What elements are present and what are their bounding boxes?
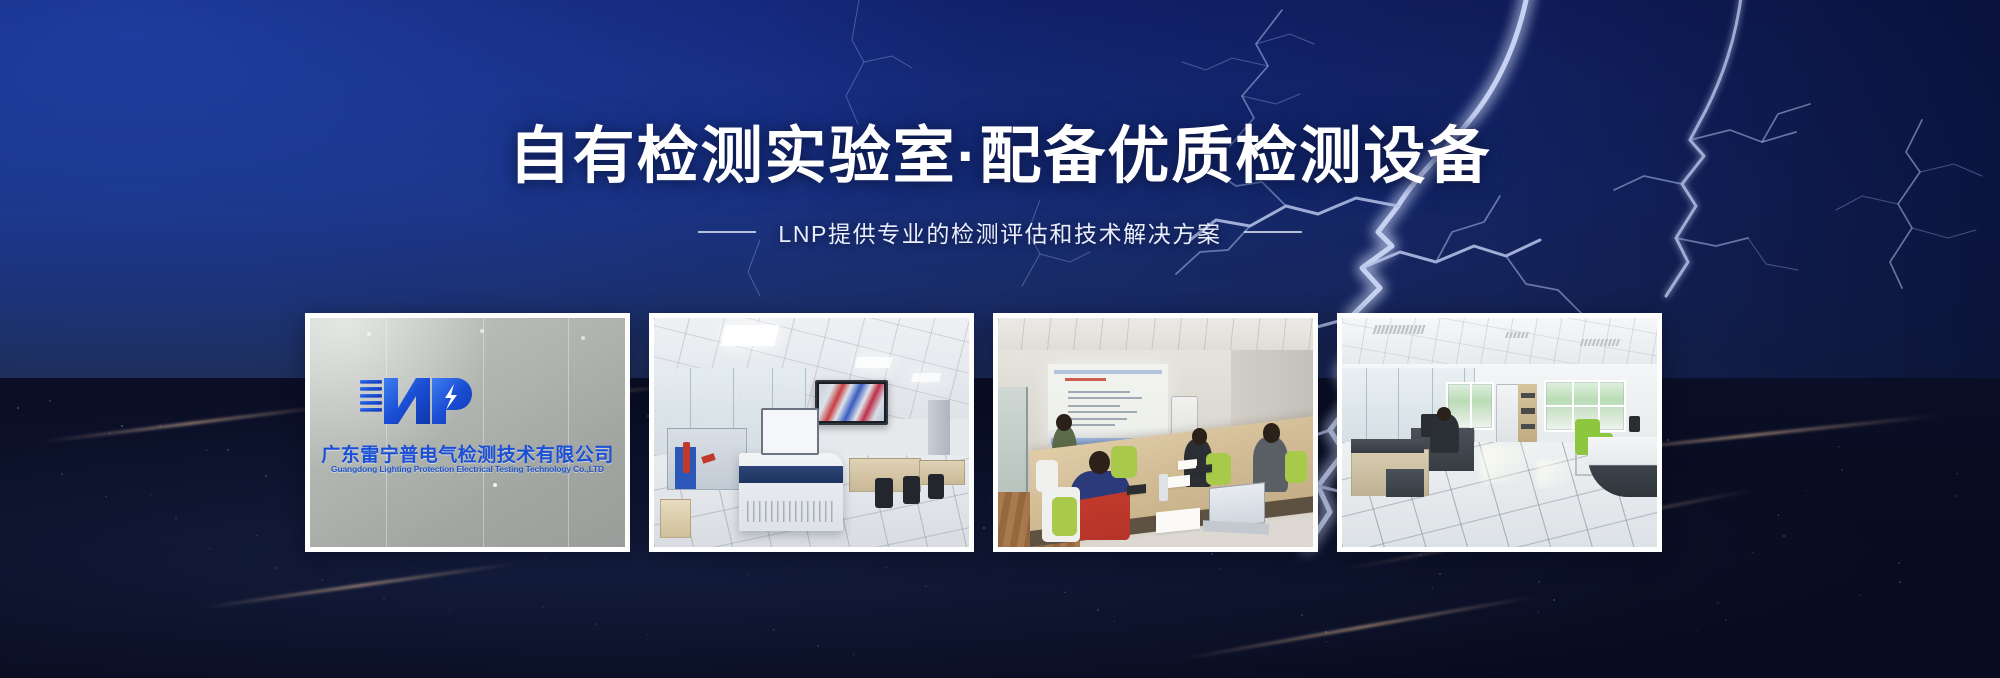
office-shelf bbox=[1518, 384, 1537, 444]
wall-dot bbox=[493, 483, 497, 487]
rule-left-icon bbox=[698, 231, 756, 233]
laptop-base bbox=[1203, 520, 1269, 535]
reception-monitor-icon bbox=[1629, 416, 1640, 432]
banner-text-block: 自有检测实验室·配备优质检测设备 LNP提供专业的检测评估和技术解决方案 bbox=[0, 120, 2000, 249]
slide-header-bar bbox=[1054, 370, 1162, 374]
attendee-right-chair bbox=[1285, 451, 1307, 483]
meeting-door bbox=[998, 387, 1028, 492]
photo-gallery: 广东雷宁普电气检测技术有限公司 Guangdong Lighting Prote… bbox=[305, 313, 1662, 552]
spare-chair-green bbox=[1111, 446, 1136, 478]
rig-red-arm bbox=[701, 454, 715, 465]
console-vents bbox=[747, 501, 834, 521]
attendee-front-head bbox=[1089, 451, 1109, 474]
spare-chair-white bbox=[1036, 460, 1058, 492]
ceiling-vent bbox=[1505, 332, 1529, 338]
ceiling-vent bbox=[1580, 339, 1620, 346]
laboratory-image bbox=[654, 318, 969, 547]
control-console bbox=[739, 453, 843, 531]
paper-document bbox=[1156, 508, 1200, 533]
office-desk-side bbox=[1386, 469, 1424, 496]
wall-seam bbox=[568, 318, 569, 547]
wall-monitor-screen bbox=[819, 384, 884, 421]
office-image bbox=[1342, 318, 1657, 547]
wall-seam bbox=[483, 318, 484, 547]
attendee-front-chair-green bbox=[1052, 497, 1077, 536]
rule-right-icon bbox=[1244, 231, 1302, 233]
ceiling-light bbox=[911, 373, 942, 382]
wall-seam bbox=[386, 318, 387, 547]
meeting-room-image bbox=[998, 318, 1313, 547]
attendee-right-head bbox=[1263, 423, 1280, 442]
ceiling-vent bbox=[1372, 325, 1425, 334]
presenter-head bbox=[1056, 414, 1072, 431]
rig-red-module bbox=[683, 442, 690, 473]
company-name-cn: 广东雷宁普电气检测技术有限公司 bbox=[310, 440, 625, 467]
hv-test-rig bbox=[667, 428, 748, 490]
console-blue-band bbox=[739, 466, 843, 483]
paper-document bbox=[1178, 459, 1197, 470]
lab-side-table bbox=[660, 499, 690, 538]
office-desk-top bbox=[1351, 439, 1423, 453]
company-name-en: Guangdong Lighting Protection Electrical… bbox=[310, 464, 625, 474]
wall-monitor-icon bbox=[815, 380, 888, 425]
company-sign-image: 广东雷宁普电气检测技术有限公司 Guangdong Lighting Prote… bbox=[310, 318, 625, 547]
page-title: 自有检测实验室·配备优质检测设备 bbox=[0, 120, 2000, 193]
slide-title bbox=[1065, 378, 1106, 381]
gallery-photo-laboratory[interactable] bbox=[649, 313, 974, 552]
ceiling-fixture bbox=[367, 332, 371, 336]
thermos-cup bbox=[1159, 474, 1168, 501]
phone-device bbox=[1196, 464, 1212, 474]
gallery-photo-office[interactable] bbox=[1337, 313, 1662, 552]
console-monitor bbox=[761, 408, 819, 456]
lab-chair bbox=[928, 474, 944, 499]
lab-chair bbox=[903, 476, 920, 503]
ceiling-fixture bbox=[581, 336, 585, 340]
banner-subtitle: LNP提供专业的检测评估和技术解决方案 bbox=[778, 215, 1221, 249]
subtitle-row: LNP提供专业的检测评估和技术解决方案 bbox=[0, 215, 2000, 249]
gallery-photo-company-sign[interactable]: 广东雷宁普电气检测技术有限公司 Guangdong Lighting Prote… bbox=[305, 313, 630, 552]
hero-banner: 自有检测实验室·配备优质检测设备 LNP提供专业的检测评估和技术解决方案 bbox=[0, 0, 2000, 678]
ceiling-light bbox=[721, 325, 780, 346]
office-worker-head bbox=[1437, 407, 1451, 421]
gallery-photo-meeting-room[interactable] bbox=[993, 313, 1318, 552]
lnp-logo-icon bbox=[358, 370, 480, 432]
lab-chair bbox=[875, 478, 894, 508]
ceiling-light bbox=[854, 357, 891, 368]
